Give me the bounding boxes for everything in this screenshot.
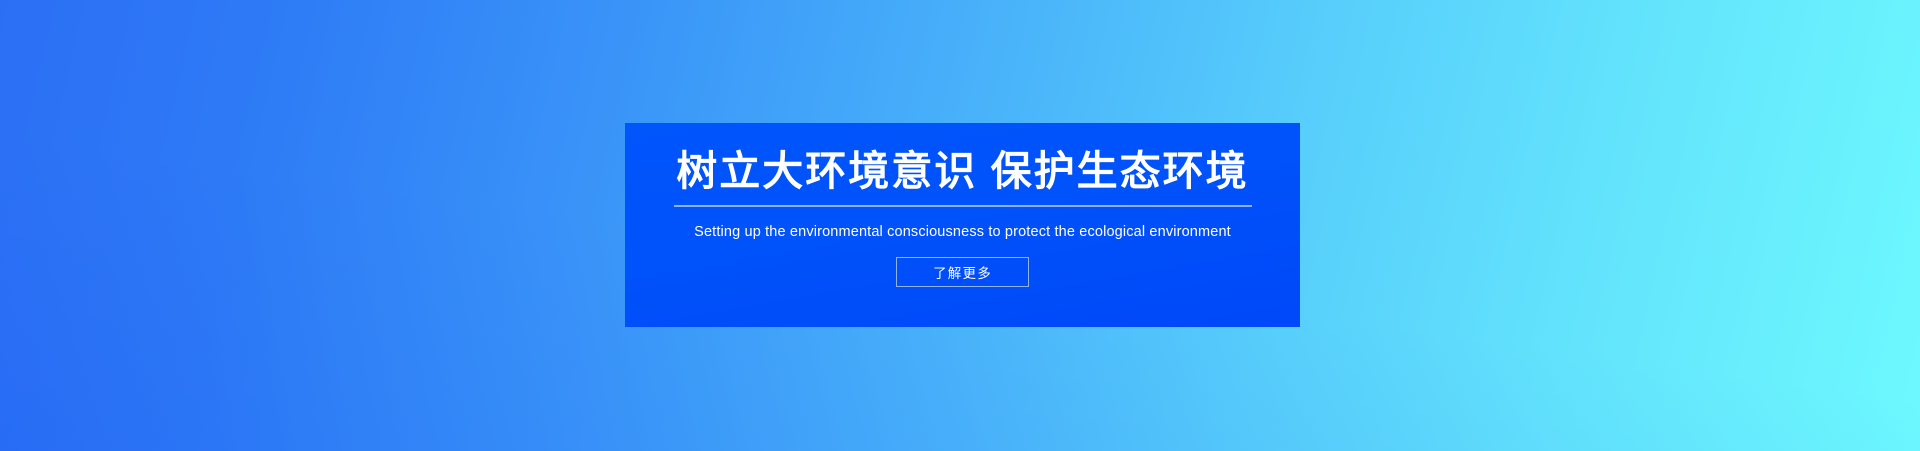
banner-headline: 树立大环境意识 保护生态环境 bbox=[676, 149, 1248, 195]
headline-divider bbox=[674, 205, 1252, 207]
hero-banner: 树立大环境意识 保护生态环境 Setting up the environmen… bbox=[0, 0, 1920, 451]
banner-content-card: 树立大环境意识 保护生态环境 Setting up the environmen… bbox=[625, 123, 1300, 327]
banner-subtitle: Setting up the environmental consciousne… bbox=[694, 224, 1231, 241]
learn-more-button[interactable]: 了解更多 bbox=[896, 257, 1029, 287]
